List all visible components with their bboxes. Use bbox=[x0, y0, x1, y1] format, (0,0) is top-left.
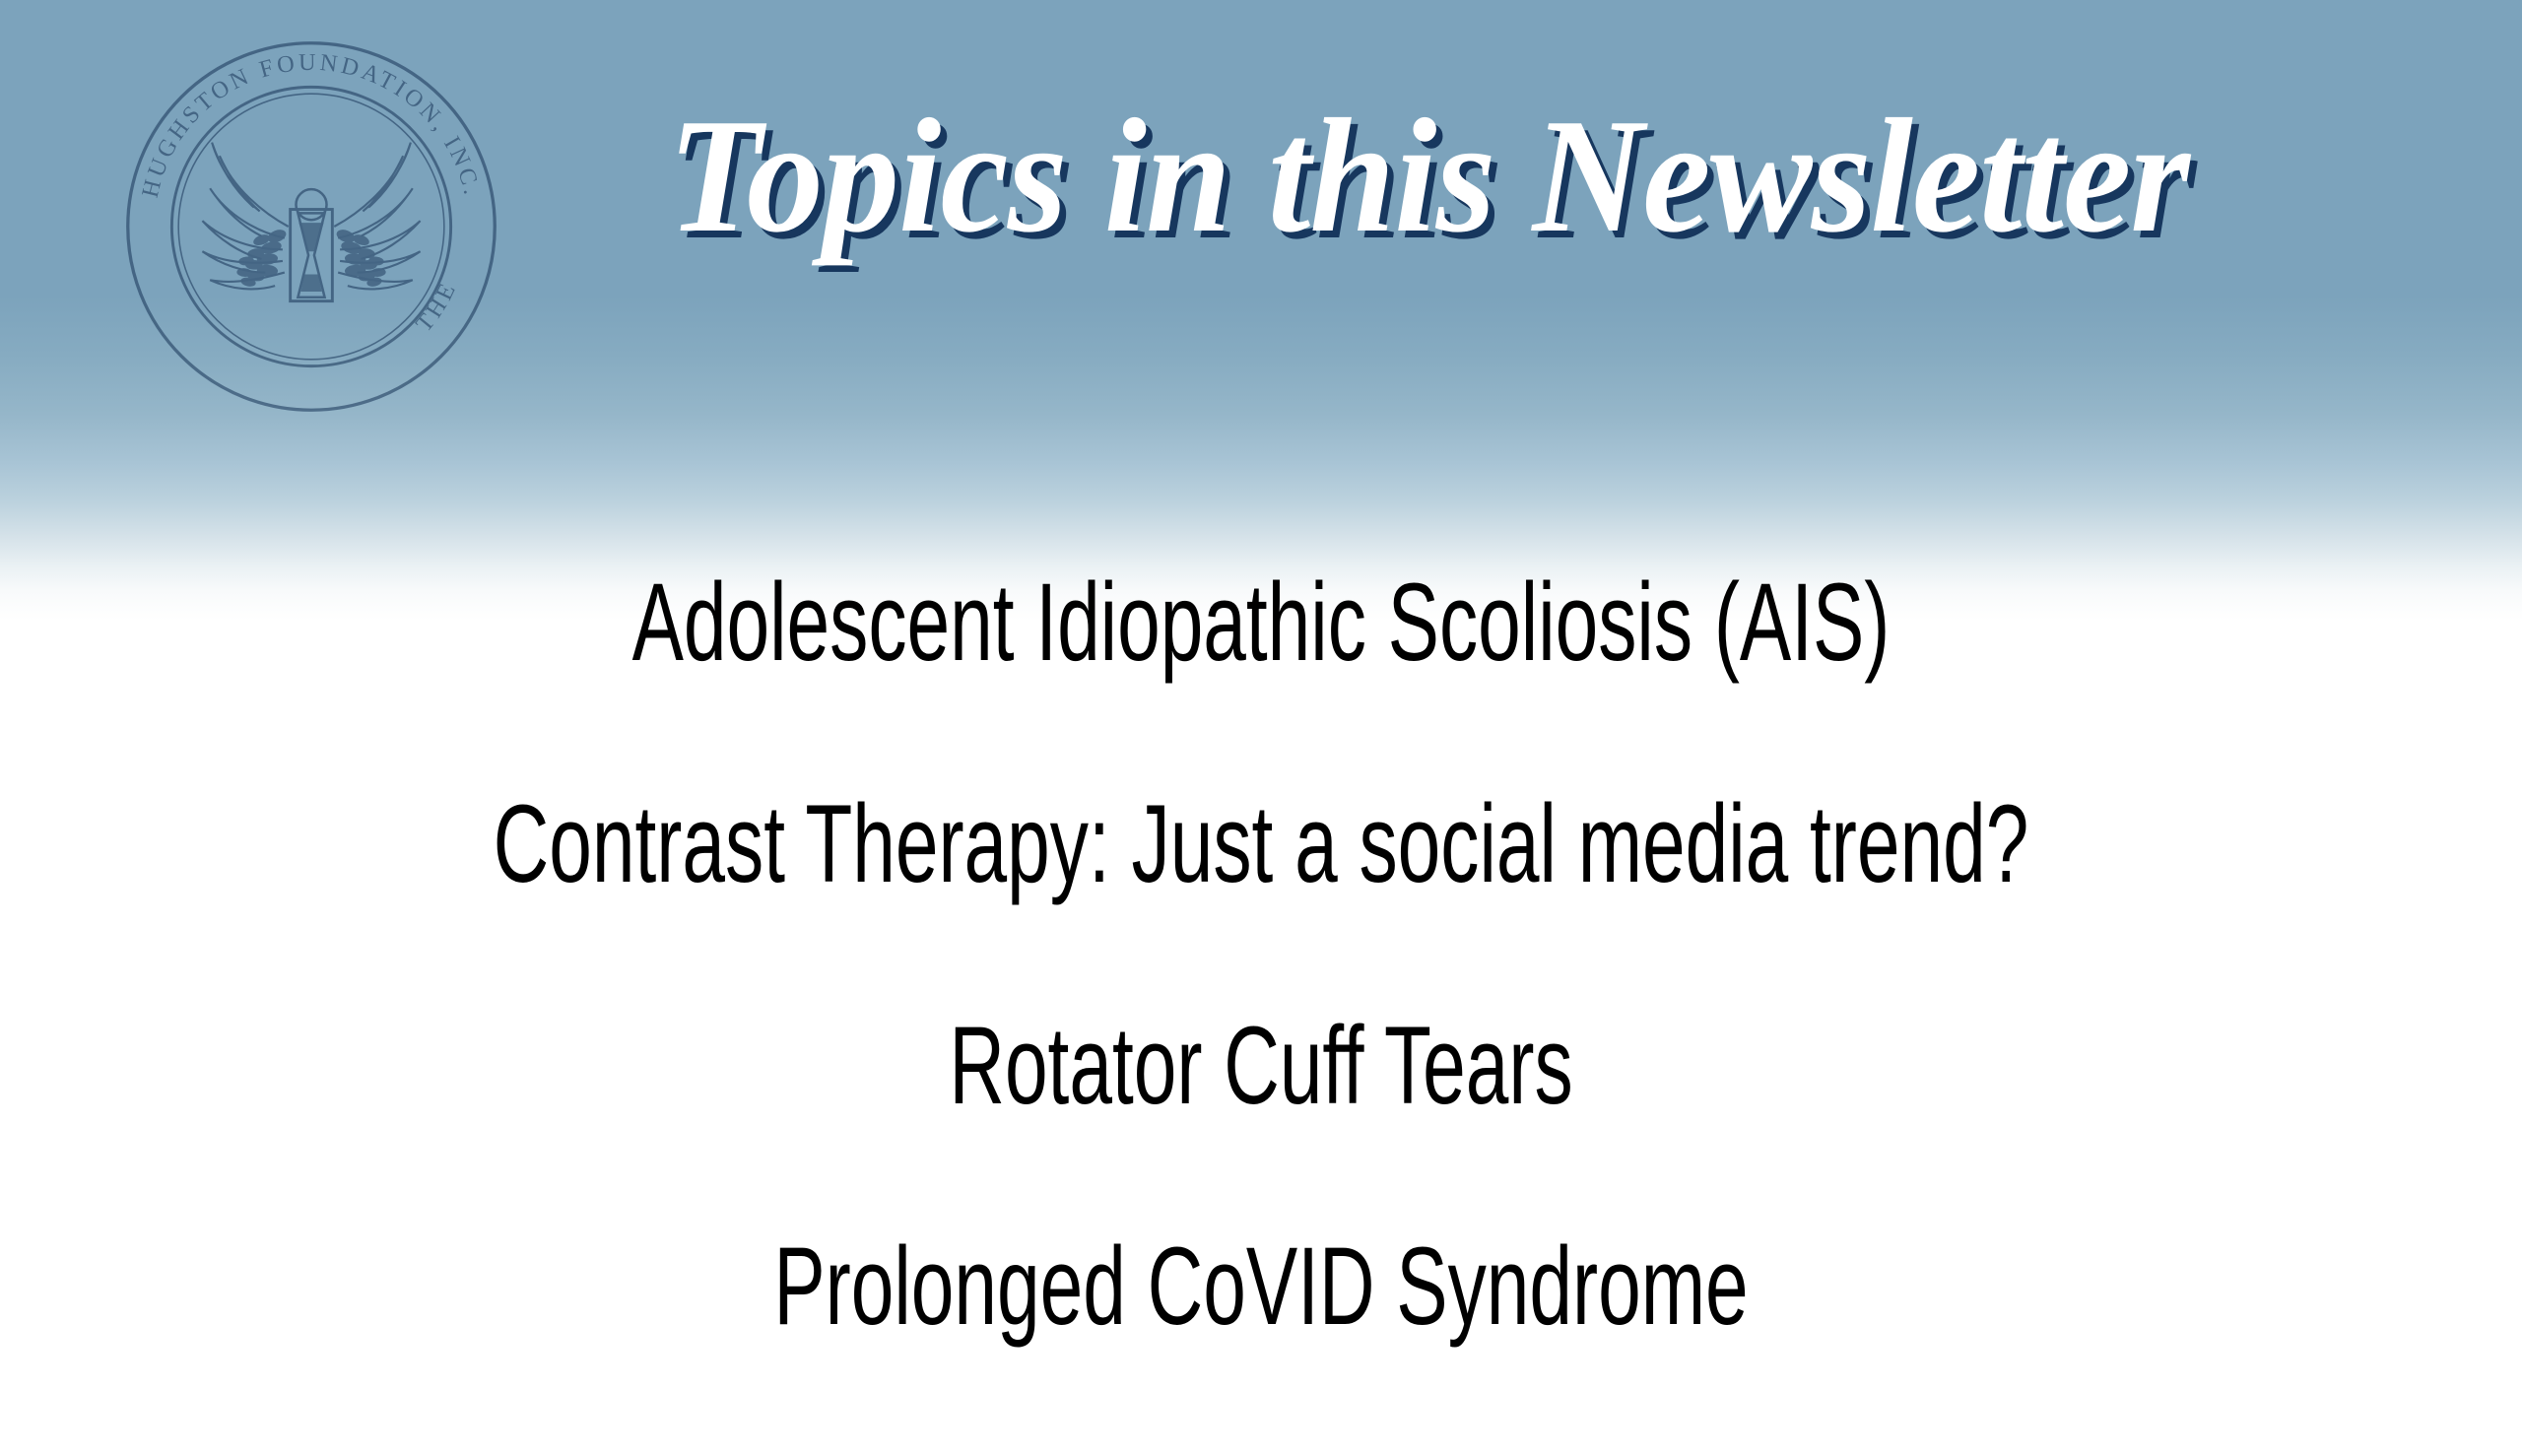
topic-item-prolonged-covid-syndrome: Prolonged CoVID Syndrome bbox=[378, 1231, 2144, 1342]
topic-spacer bbox=[0, 678, 2522, 789]
topic-spacer bbox=[0, 899, 2522, 1011]
hughston-foundation-seal-logo: HUGHSTON FOUNDATION, INC. THE bbox=[120, 35, 502, 418]
topic-spacer bbox=[0, 1121, 2522, 1231]
svg-text:THE: THE bbox=[411, 277, 462, 337]
topic-spacer bbox=[0, 404, 2522, 567]
topic-item-rotator-cuff-tears: Rotator Cuff Tears bbox=[378, 1011, 2144, 1121]
newsletter-topics-slide: HUGHSTON FOUNDATION, INC. THE bbox=[0, 0, 2522, 1456]
topic-item-scoliosis: Adolescent Idiopathic Scoliosis (AIS) bbox=[378, 567, 2144, 678]
topic-item-contrast-therapy: Contrast Therapy: Just a social media tr… bbox=[378, 789, 2144, 899]
page-title: Topics in this Newsletter bbox=[567, 94, 2290, 257]
svg-text:HUGHSTON FOUNDATION, INC.: HUGHSTON FOUNDATION, INC. bbox=[137, 49, 486, 200]
topics-list: Adolescent Idiopathic Scoliosis (AIS) Co… bbox=[0, 404, 2522, 1342]
